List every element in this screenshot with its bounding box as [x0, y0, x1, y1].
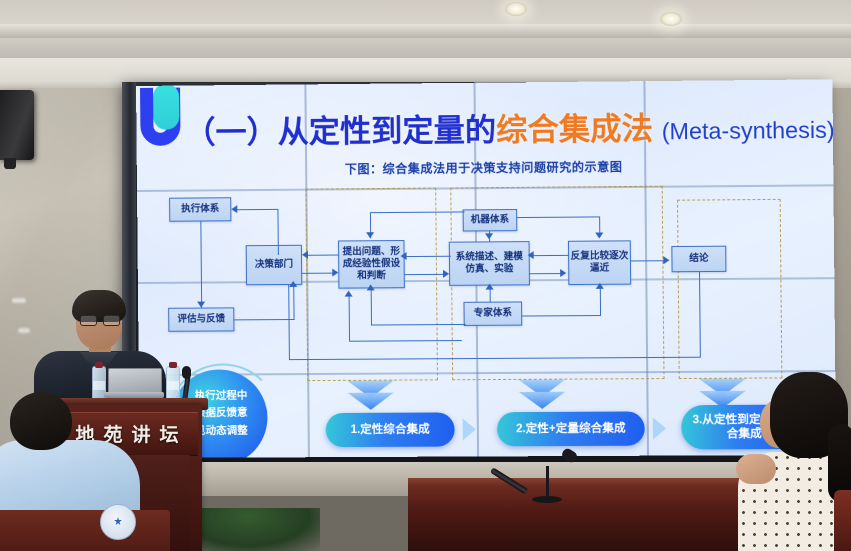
- connector: [200, 221, 202, 307]
- diagram-node-decision[interactable]: 决策部门: [246, 245, 303, 285]
- front-desk: [408, 486, 768, 551]
- connector: [600, 287, 602, 315]
- audience-chair-right: [834, 490, 851, 551]
- wall-speaker: [0, 90, 34, 160]
- diagram-node-machine[interactable]: 机器体系: [463, 209, 518, 232]
- diagram-node-conclusion[interactable]: 结论: [671, 246, 726, 273]
- connector: [293, 285, 295, 319]
- connector: [288, 285, 290, 359]
- presenter-glasses: [80, 315, 120, 324]
- connector: [302, 273, 336, 275]
- arrowhead: [595, 232, 603, 238]
- slide-title-highlight: 综合集成法: [496, 111, 653, 148]
- connector: [277, 209, 279, 255]
- table-microphone: [520, 438, 580, 496]
- arrowhead: [528, 251, 534, 259]
- ceiling-downlight: [505, 2, 527, 16]
- arrowhead: [367, 284, 375, 290]
- arrowhead: [345, 291, 353, 297]
- connector: [405, 274, 447, 276]
- arrowhead: [596, 283, 604, 289]
- arrowhead: [289, 281, 297, 287]
- wall-highlight: [12, 298, 26, 303]
- arrowhead: [663, 256, 669, 264]
- diagram-node-feedback[interactable]: 评估与反馈: [168, 307, 234, 331]
- presentation-slide[interactable]: （一）从定性到定量的综合集成法 (Meta-synthesis) 下图：综合集成…: [136, 79, 836, 458]
- connector: [530, 255, 568, 257]
- ceiling-downlight: [660, 12, 682, 26]
- connector: [306, 255, 338, 257]
- step-arrow-icon: [463, 418, 476, 440]
- u-logo-icon: [140, 88, 187, 150]
- diagram-node-iterate[interactable]: 反复比较逐次逼近: [568, 240, 631, 285]
- audience-member-left: [0, 392, 142, 551]
- arrowhead: [197, 302, 205, 308]
- connector: [234, 319, 294, 321]
- slide-title: （一）从定性到定量的综合集成法 (Meta-synthesis): [184, 102, 834, 153]
- down-chevron-icon: [347, 381, 394, 415]
- arrowhead: [332, 269, 338, 277]
- arrowhead: [302, 251, 308, 259]
- step-pill-1[interactable]: 1.定性综合集成: [326, 412, 455, 447]
- audience-chair-left: [0, 510, 170, 551]
- lecture-room-photo: （一）从定性到定量的综合集成法 (Meta-synthesis) 下图：综合集成…: [0, 0, 851, 551]
- potted-plant: [200, 508, 320, 551]
- diagram-node-expert[interactable]: 专家体系: [463, 301, 522, 325]
- arrowhead: [443, 270, 449, 278]
- audience-member-right: [742, 372, 851, 551]
- audience-left-head: [10, 392, 72, 450]
- slide-subtitle: 下图：综合集成法用于决策支持问题研究的示意图: [137, 156, 834, 179]
- ceiling-beam: [0, 24, 851, 38]
- chair-emblem: [100, 504, 136, 540]
- connector: [631, 260, 665, 262]
- diagram-node-problem[interactable]: 提出问题、形成经验性假设和判断: [338, 240, 405, 289]
- arrowhead: [486, 284, 494, 290]
- slide-title-prefix: （一）从定性到定量的: [184, 113, 496, 151]
- arrowhead: [366, 232, 374, 238]
- slide-title-english: (Meta-synthesis): [662, 117, 835, 145]
- step-arrow-icon: [653, 417, 666, 439]
- diagram-node-exec[interactable]: 执行体系: [169, 197, 231, 222]
- connector: [233, 209, 278, 211]
- venue-char-4: 坛: [160, 420, 181, 447]
- diagram-node-modeling[interactable]: 系统描述、建模仿真、实验: [449, 241, 530, 286]
- connector: [530, 273, 564, 275]
- down-chevron-icon: [519, 380, 566, 414]
- arrowhead: [231, 205, 237, 213]
- audience-right-hands: [736, 454, 776, 484]
- connector: [405, 256, 451, 258]
- arrowhead: [485, 233, 493, 239]
- connector: [490, 288, 491, 302]
- wall-highlight: [18, 328, 30, 333]
- dashed-group-conclusion: [677, 199, 782, 379]
- arrowhead: [560, 269, 566, 277]
- arrowhead: [401, 252, 407, 260]
